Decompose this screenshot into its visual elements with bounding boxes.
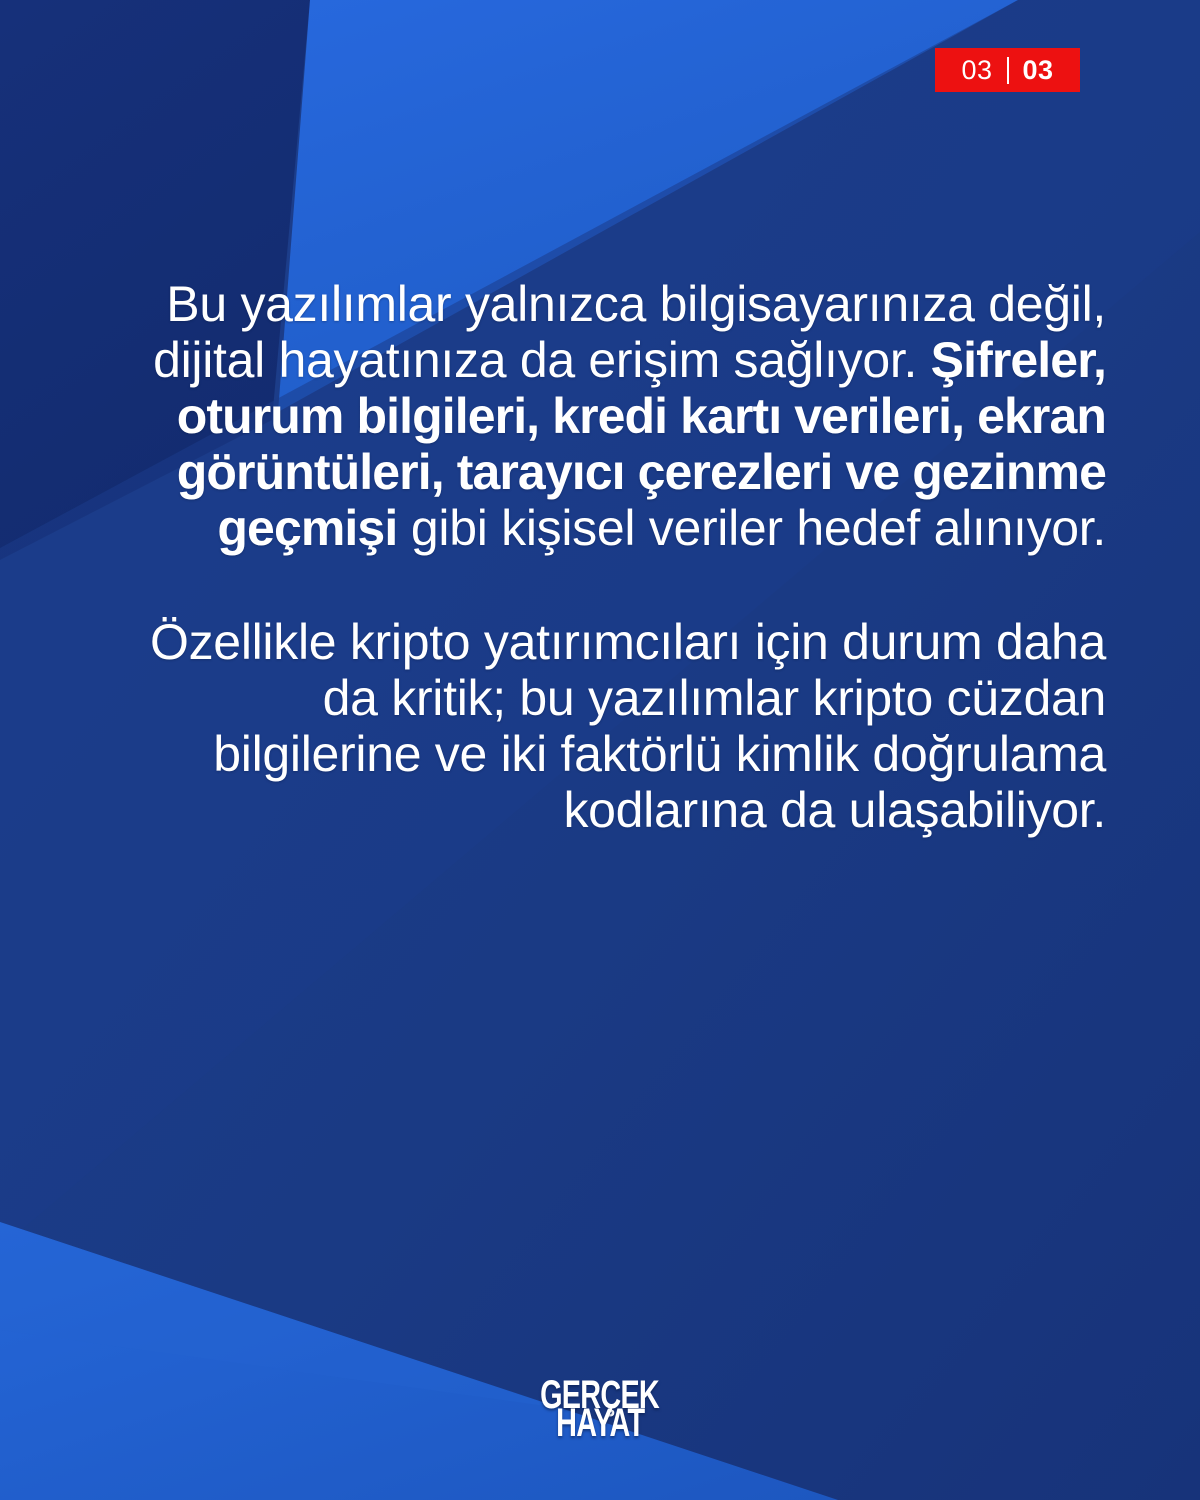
paragraph-spacer xyxy=(150,556,1106,614)
article-body: Bu yazılımlar yalnızca bilgisayarınıza d… xyxy=(150,276,1106,838)
social-card: 03 03 Bu yazılımlar yalnızca bilgisayarı… xyxy=(0,0,1200,1500)
paragraph-1: Bu yazılımlar yalnızca bilgisayarınıza d… xyxy=(150,276,1106,556)
paragraph-1-tail: gibi kişisel veriler hedef alınıyor. xyxy=(397,500,1106,556)
brand-logo-line-2: HAYAT xyxy=(556,1406,644,1440)
page-counter-current: 03 xyxy=(947,57,1006,84)
brand-logo: GERÇEK HAYAT xyxy=(0,1378,1200,1441)
page-counter-total: 03 xyxy=(1009,57,1068,84)
page-counter-badge: 03 03 xyxy=(935,48,1080,92)
paragraph-2: Özellikle kripto yatırımcıları için duru… xyxy=(150,614,1106,838)
